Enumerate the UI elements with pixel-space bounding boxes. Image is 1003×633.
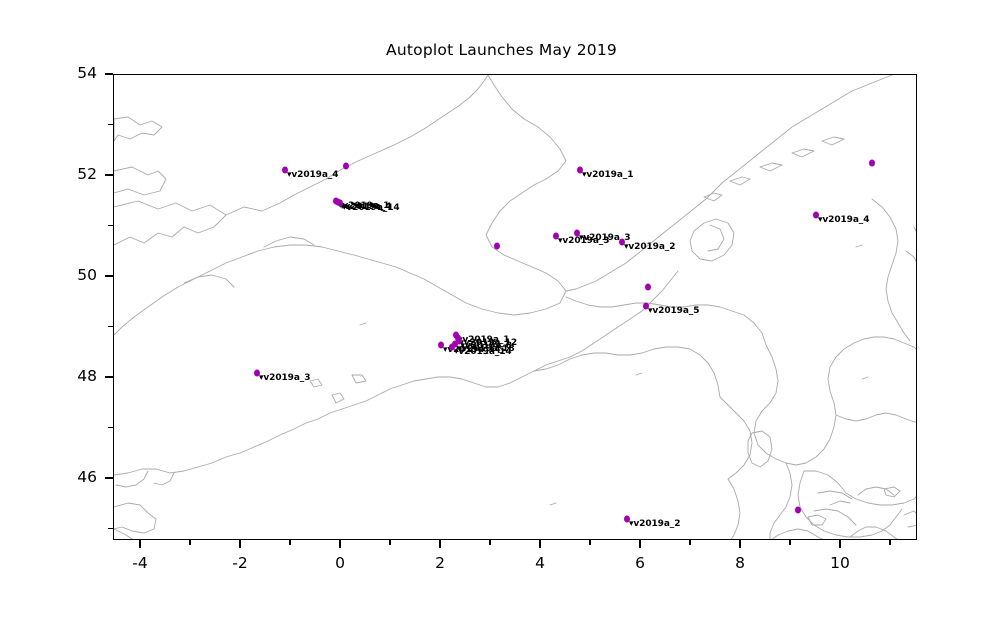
scatter-point-label: ▾v2019a_2 [629,519,680,529]
y-tick-label: 52 [37,165,97,183]
scatter-point-label: ▾v2019a_4 [818,215,869,225]
y-tick-major [105,275,113,276]
scatter-point-label: ▾v2019a_2 [624,242,675,252]
x-tick-label: 2 [410,554,470,572]
x-tick-minor [489,540,490,545]
scatter-point-label: ▾v2019a_1 [582,170,633,180]
x-tick-minor [689,540,690,545]
x-tick-major [239,540,240,548]
scatter-point-label: ▾v2019a_5 [648,306,699,316]
x-tick-major [439,540,440,548]
scatter-point-label: ▾v2019a_4 [287,170,338,180]
x-tick-minor [389,540,390,545]
x-tick-major [639,540,640,548]
scatter-point-label: ▾v2019a_14 [454,347,512,357]
matplotlib-figure: Autoplot Launches May 2019 4648505254-4-… [0,0,1003,633]
plot-area: ▾v2019a_4▾v2019a_1▾v2019a_4▾v2019a_14▾v2… [113,74,917,540]
y-tick-label: 50 [37,266,97,284]
x-tick-minor [789,540,790,545]
x-tick-major [839,540,840,548]
x-tick-minor [289,540,290,545]
x-tick-major [739,540,740,548]
page-title: Autoplot Launches May 2019 [0,41,1003,59]
scatter-point [343,162,349,169]
y-tick-major [105,477,113,478]
y-tick-major [105,174,113,175]
scatter-point [494,242,500,249]
screenshot-root: Autoplot Launches May 2019 4648505254-4-… [0,0,1003,633]
scatter-point [645,284,651,291]
y-tick-label: 54 [37,64,97,82]
y-tick-label: 48 [37,367,97,385]
y-tick-major [105,376,113,377]
x-tick-label: 8 [710,554,770,572]
scatter-point-label: ▾v2019a_3 [259,373,310,383]
x-tick-major [339,540,340,548]
x-tick-label: 0 [310,554,370,572]
x-tick-label: 4 [510,554,570,572]
x-tick-label: -4 [110,554,170,572]
scatter-point [869,159,875,166]
y-tick-major [105,73,113,74]
x-tick-label: 10 [810,554,870,572]
x-tick-major [539,540,540,548]
scatter-point [795,507,801,514]
x-tick-minor [889,540,890,545]
x-tick-major [139,540,140,548]
scatter-point-label: ▾v2019a_14 [342,203,400,213]
x-tick-label: 6 [610,554,670,572]
x-tick-minor [589,540,590,545]
x-tick-label: -2 [210,554,270,572]
x-tick-minor [189,540,190,545]
y-tick-label: 46 [37,468,97,486]
basemap-coastlines [114,75,917,540]
